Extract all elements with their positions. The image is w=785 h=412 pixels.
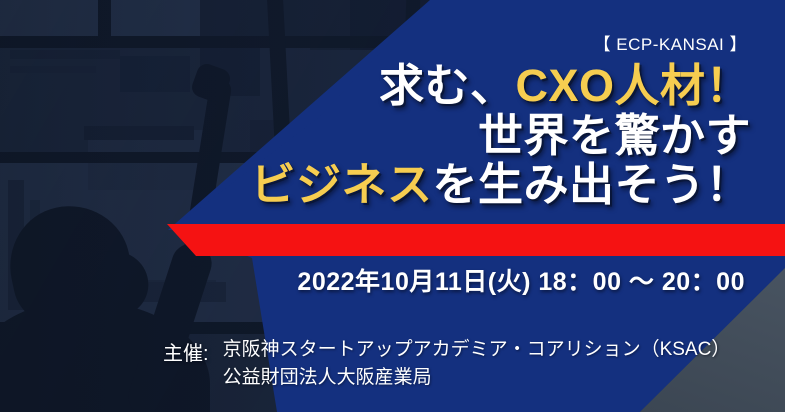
poster-headline: 求む、CXO人材！ 世界を驚かす ビジネスを生み出そう！: [250, 62, 751, 209]
event-poster: 【 ECP-KANSAI 】 求む、CXO人材！ 世界を驚かす ビジネスを生み出…: [0, 0, 785, 412]
organizer-name: 京阪神スタートアップアカデミア・コアリション（KSAC）: [223, 336, 731, 364]
headline-line-3-white: を生み出そう！: [432, 159, 751, 210]
organizer-names: 京阪神スタートアップアカデミア・コアリション（KSAC） 公益財団法人大阪産業局: [223, 336, 731, 391]
organizer-label: 主催:: [163, 336, 209, 366]
headline-line-3: ビジネスを生み出そう！: [250, 161, 751, 209]
headline-line-2: 世界を驚かす: [250, 112, 751, 160]
headline-line-3-yellow: ビジネス: [250, 159, 432, 210]
headline-line-1-white: 求む、: [379, 60, 516, 111]
event-datetime: 2022年10月11日(火) 18：00 〜 20：00: [297, 262, 745, 298]
poster-kicker: 【 ECP-KANSAI 】: [594, 30, 747, 55]
headline-line-1: 求む、CXO人材！: [250, 62, 751, 110]
organizer-name: 公益財団法人大阪産業局: [223, 364, 731, 392]
organizer-block: 主催: 京阪神スタートアップアカデミア・コアリション（KSAC） 公益財団法人大…: [163, 336, 730, 391]
headline-line-1-yellow: CXO人材！: [515, 60, 751, 111]
poster-content: 【 ECP-KANSAI 】 求む、CXO人材！ 世界を驚かす ビジネスを生み出…: [0, 0, 785, 412]
headline-line-2-white: 世界を驚かす: [478, 110, 751, 161]
